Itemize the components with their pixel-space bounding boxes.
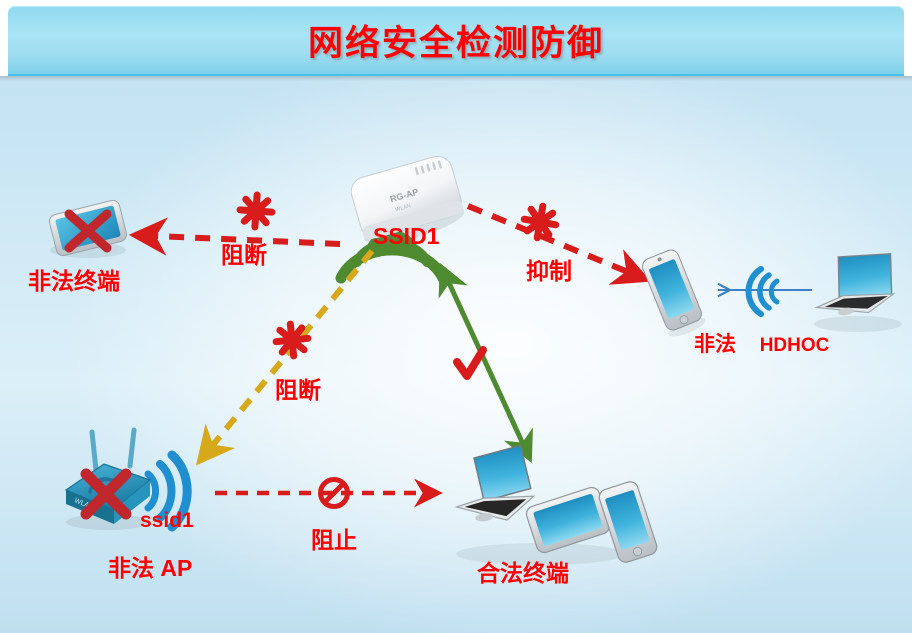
link-label-block-left: 阻断 [221, 236, 267, 270]
link-label-prevent: 阻止 [311, 521, 357, 555]
node-label-illegal-adhoc-cn: 非法 [694, 333, 736, 356]
title-banner: 网络安全检测防御 [8, 6, 904, 78]
node-label-legal-terminal: 合法终端 [477, 554, 569, 588]
diagram-canvas: RG-AP WLAN [0, 76, 912, 633]
node-label-illegal-adhoc-en: HDHOC [760, 335, 830, 356]
node-label-illegal-terminal: 非法终端 [28, 262, 120, 296]
rogue-ssid-label: ssid1 [140, 509, 194, 533]
node-label-illegal-adhoc: 非法 HDHOC [694, 328, 829, 358]
node-label-illegal-ap: 非法 AP [108, 549, 192, 583]
page-title: 网络安全检测防御 [8, 15, 904, 66]
adhoc-phone-icon [639, 247, 708, 340]
illegal-ap-icon: WLAN [66, 430, 150, 530]
adhoc-laptop-icon [809, 248, 902, 332]
ssid1-label: SSID1 [373, 223, 439, 250]
link-label-block-ap: 阻断 [275, 371, 321, 405]
diagram-page: 网络安全检测防御 [0, 0, 912, 633]
link-label-suppress: 抑制 [526, 252, 572, 286]
illegal-terminal-icon [48, 199, 128, 258]
legal-terminal-icon [449, 445, 658, 565]
